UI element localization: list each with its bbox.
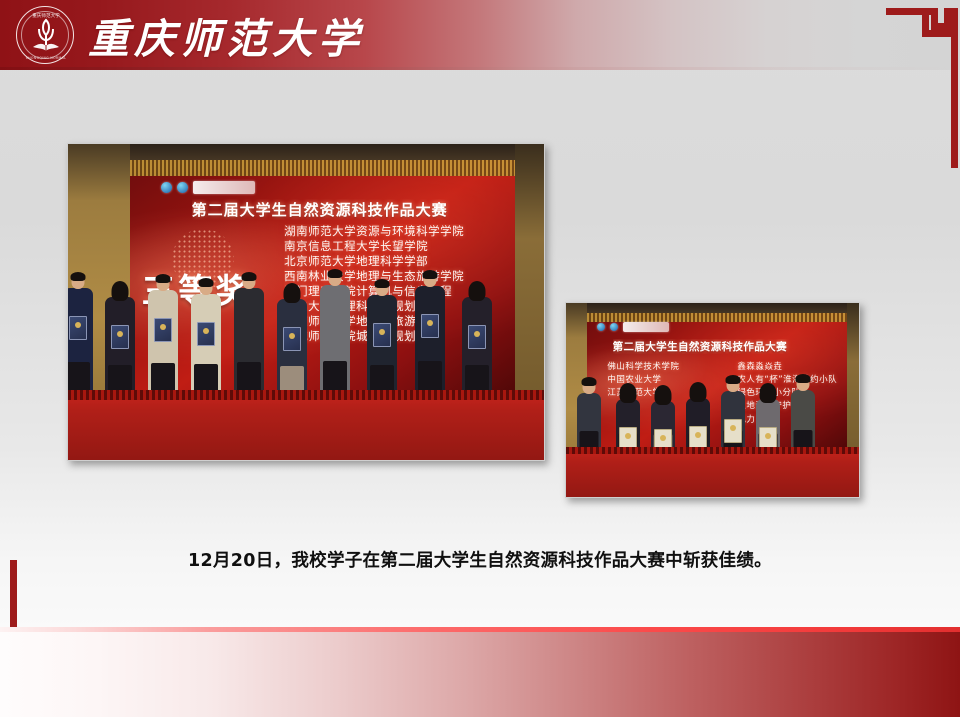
photo-scene: 第二届大学生自然资源科技作品大赛 佛山科学技术学院 鑫森淼焱垚 中国农业大学 农… — [566, 303, 859, 497]
stage-floor — [566, 447, 859, 497]
led-backdrop-title: 第二届大学生自然资源科技作品大赛 — [613, 339, 843, 354]
bottom-decorative-band — [0, 627, 960, 720]
page-title: 重庆师范大学 — [88, 4, 364, 66]
sponsor-logo-icon-2 — [177, 182, 188, 193]
award-list-item: 湖南师范大学资源与环境科学学院 — [284, 224, 512, 239]
led-top-strip — [587, 313, 848, 322]
sponsor-logo-jiangsu-normal — [193, 181, 255, 194]
stage-floor — [68, 390, 544, 460]
photo-scene: 第二届大学生自然资源科技作品大赛 三等奖 湖南师范大学资源与环境科学学院 南京信… — [68, 144, 544, 460]
photo-award-ceremony-main: 第二届大学生自然资源科技作品大赛 三等奖 湖南师范大学资源与环境科学学院 南京信… — [67, 143, 545, 461]
presentation-slide: 重庆师范大学 CHONGQING NORMAL 重庆师范大学 — [0, 0, 960, 720]
sponsor-logo-icon-2 — [610, 323, 618, 331]
sponsor-logo-icon-1 — [161, 182, 172, 193]
slide-caption: 12月20日，我校学子在第二届大学生自然资源科技作品大赛中斩获佳绩。 — [0, 547, 960, 572]
led-backdrop-title: 第二届大学生自然资源科技作品大赛 — [192, 199, 508, 220]
stage-edge — [566, 447, 859, 454]
band-gradient-fill — [0, 632, 960, 718]
led-sponsor-logos — [597, 322, 669, 332]
svg-text:重庆师范大学: 重庆师范大学 — [32, 12, 60, 19]
sponsor-logo-icon-1 — [597, 323, 605, 331]
svg-text:CHONGQING NORMAL: CHONGQING NORMAL — [26, 56, 66, 60]
led-top-strip — [130, 160, 516, 176]
top-right-corner-ornament — [856, 8, 960, 168]
photo-award-ceremony-secondary: 第二届大学生自然资源科技作品大赛 佛山科学技术学院 鑫森淼焱垚 中国农业大学 农… — [565, 302, 860, 498]
stage-edge — [68, 390, 544, 400]
university-seal-icon: 重庆师范大学 CHONGQING NORMAL — [16, 6, 74, 64]
led-sponsor-logos — [161, 181, 255, 194]
sponsor-logo-jiangsu-normal — [623, 322, 669, 332]
award-recipients-group — [68, 239, 544, 416]
header-banner: 重庆师范大学 CHONGQING NORMAL 重庆师范大学 — [0, 0, 960, 70]
